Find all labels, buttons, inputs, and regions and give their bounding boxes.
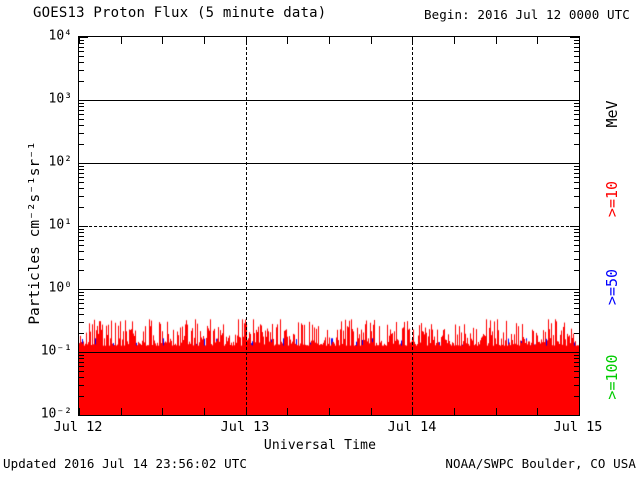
y-tick-minor: [79, 314, 84, 315]
y-tick-minor: [79, 396, 84, 397]
x-tick: [496, 408, 497, 415]
y-tick-minor: [79, 245, 84, 246]
y-tick-minor: [79, 308, 84, 309]
y-tick-minor: [574, 70, 579, 71]
x-tick: [454, 408, 455, 415]
y-tick-minor: [79, 182, 84, 183]
y-tick-minor: [574, 106, 579, 107]
y-tick-minor: [79, 229, 84, 230]
y-tick-major: [79, 100, 88, 101]
x-tick: [537, 37, 538, 44]
y-tick-minor: [79, 371, 84, 372]
y-tick-minor: [79, 366, 84, 367]
y-tick-major: [570, 163, 579, 164]
y-tick-minor: [79, 236, 84, 237]
y-tick-minor: [574, 396, 579, 397]
y-tick-minor: [79, 355, 84, 356]
x-tick-label: Jul 15: [554, 419, 603, 435]
legend-item-ge100: >=100: [603, 312, 621, 442]
y-tick-major: [79, 415, 88, 416]
y-tick-major: [79, 37, 88, 38]
y-tick-minor: [79, 110, 84, 111]
y-tick-minor: [79, 232, 84, 233]
y-tick-minor: [574, 371, 579, 372]
y-tick-minor: [574, 333, 579, 334]
y-tick-minor: [574, 358, 579, 359]
y-tick-minor: [574, 270, 579, 271]
y-tick-minor: [574, 207, 579, 208]
y-tick-minor: [574, 51, 579, 52]
y-tick-label: 10¹: [49, 219, 72, 232]
y-tick-minor: [79, 177, 84, 178]
y-tick-minor: [79, 103, 84, 104]
y-tick-major: [79, 289, 88, 290]
x-tick: [204, 408, 205, 415]
y-tick-minor: [79, 119, 84, 120]
x-tick: [579, 408, 580, 415]
day-separator-jul14: [412, 37, 413, 415]
x-tick: [329, 408, 330, 415]
y-tick-label: 10³: [49, 93, 72, 106]
y-tick-minor: [79, 377, 84, 378]
y-tick-minor: [574, 62, 579, 63]
y-tick-minor: [574, 47, 579, 48]
y-tick-minor: [574, 377, 579, 378]
y-tick-minor: [574, 295, 579, 296]
y-tick-minor: [574, 133, 579, 134]
y-tick-minor: [574, 355, 579, 356]
x-axis-title: Universal Time: [0, 438, 640, 453]
y-tick-minor: [79, 299, 84, 300]
y-tick-major: [570, 352, 579, 353]
x-tick-label: Jul 14: [388, 419, 437, 435]
y-tick-minor: [574, 173, 579, 174]
y-tick-minor: [574, 144, 579, 145]
y-tick-minor: [574, 119, 579, 120]
source-attribution: NOAA/SWPC Boulder, CO USA: [445, 456, 636, 471]
y-tick-minor: [79, 188, 84, 189]
y-tick-major: [570, 37, 579, 38]
y-tick-minor: [79, 56, 84, 57]
x-tick: [162, 37, 163, 44]
y-tick-minor: [574, 229, 579, 230]
y-tick-minor: [79, 47, 84, 48]
y-tick-minor: [574, 182, 579, 183]
y-tick-minor: [574, 236, 579, 237]
y-tick-minor: [79, 81, 84, 82]
x-tick: [287, 37, 288, 44]
y-tick-minor: [574, 322, 579, 323]
y-tick-minor: [574, 240, 579, 241]
plot-area: [78, 36, 580, 416]
y-tick-minor: [79, 106, 84, 107]
y-tick-minor: [574, 362, 579, 363]
y-tick-minor: [574, 169, 579, 170]
y-tick-minor: [79, 166, 84, 167]
y-tick-minor: [574, 196, 579, 197]
x-tick-label: Jul 12: [54, 419, 103, 435]
gridline-1e3: [79, 100, 579, 101]
x-tick: [287, 408, 288, 415]
y-tick-minor: [79, 270, 84, 271]
y-tick-major: [570, 289, 579, 290]
y-tick-minor: [574, 177, 579, 178]
y-tick-label: 10²: [49, 155, 72, 168]
x-tick: [121, 37, 122, 44]
y-axis-tick-labels: 10⁴ 10³ 10² 10¹ 10⁰ 10⁻¹ 10⁻²: [0, 36, 74, 414]
begin-time-label: Begin: 2016 Jul 12 0000 UTC: [424, 7, 630, 22]
y-tick-minor: [79, 259, 84, 260]
x-tick: [79, 37, 80, 44]
y-tick-major: [570, 226, 579, 227]
y-tick-minor: [574, 366, 579, 367]
y-tick-minor: [79, 240, 84, 241]
y-tick-minor: [79, 385, 84, 386]
x-tick: [162, 408, 163, 415]
y-tick-major: [570, 415, 579, 416]
y-tick-major: [79, 163, 88, 164]
x-tick: [412, 37, 413, 44]
y-tick-minor: [79, 358, 84, 359]
updated-timestamp: Updated 2016 Jul 14 23:56:02 UTC: [3, 456, 247, 471]
y-tick-label: 10⁴: [49, 30, 72, 43]
x-tick: [204, 37, 205, 44]
x-tick: [246, 37, 247, 44]
y-tick-minor: [574, 125, 579, 126]
y-tick-minor: [574, 114, 579, 115]
y-tick-label: 10⁰: [49, 282, 72, 295]
x-tick: [412, 408, 413, 415]
y-tick-minor: [79, 114, 84, 115]
x-tick: [329, 37, 330, 44]
y-tick-major: [79, 226, 88, 227]
y-tick-major: [570, 100, 579, 101]
x-tick: [246, 408, 247, 415]
y-tick-minor: [79, 292, 84, 293]
y-tick-minor: [574, 245, 579, 246]
y-tick-minor: [79, 251, 84, 252]
gridline-1e2: [79, 163, 579, 164]
y-tick-minor: [574, 259, 579, 260]
y-tick-minor: [574, 81, 579, 82]
x-tick: [371, 37, 372, 44]
y-tick-minor: [574, 188, 579, 189]
y-tick-minor: [79, 125, 84, 126]
y-tick-minor: [574, 103, 579, 104]
y-tick-minor: [79, 333, 84, 334]
y-tick-minor: [574, 314, 579, 315]
y-tick-minor: [79, 362, 84, 363]
y-tick-minor: [79, 207, 84, 208]
y-tick-minor: [79, 133, 84, 134]
gridline-1e1: [79, 226, 579, 227]
y-tick-major: [79, 352, 88, 353]
y-tick-minor: [574, 308, 579, 309]
y-tick-minor: [79, 70, 84, 71]
y-tick-minor: [574, 232, 579, 233]
y-tick-minor: [574, 299, 579, 300]
page-title: GOES13 Proton Flux (5 minute data): [33, 5, 326, 21]
x-tick: [537, 408, 538, 415]
day-separator-jul13: [246, 37, 247, 415]
x-tick: [579, 37, 580, 44]
y-tick-minor: [574, 166, 579, 167]
x-tick: [371, 408, 372, 415]
y-tick-minor: [574, 292, 579, 293]
x-tick: [121, 408, 122, 415]
y-tick-minor: [79, 303, 84, 304]
x-tick: [454, 37, 455, 44]
y-tick-minor: [574, 110, 579, 111]
gridline-1e-1: [79, 352, 579, 353]
x-tick: [79, 408, 80, 415]
y-tick-minor: [79, 169, 84, 170]
y-tick-minor: [574, 385, 579, 386]
y-tick-label: 10⁻¹: [41, 344, 72, 357]
y-tick-minor: [79, 173, 84, 174]
x-tick-label: Jul 13: [221, 419, 270, 435]
y-tick-minor: [79, 196, 84, 197]
y-tick-minor: [574, 56, 579, 57]
x-tick: [496, 37, 497, 44]
gridline-1e0: [79, 289, 579, 290]
plot-inner: [79, 37, 579, 415]
y-tick-minor: [79, 62, 84, 63]
y-tick-minor: [79, 144, 84, 145]
y-tick-minor: [79, 322, 84, 323]
y-tick-minor: [79, 51, 84, 52]
y-tick-minor: [574, 251, 579, 252]
y-tick-minor: [79, 295, 84, 296]
y-tick-minor: [574, 303, 579, 304]
